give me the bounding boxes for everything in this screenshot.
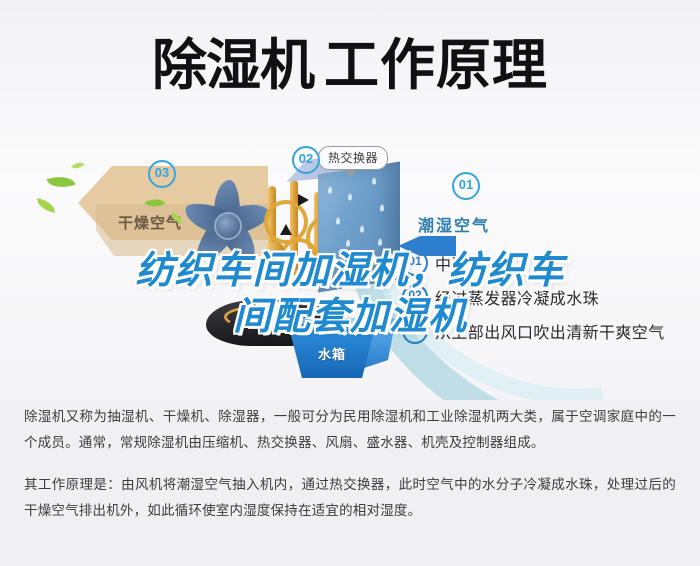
fan-icon — [178, 176, 274, 272]
leaf-icon — [35, 198, 57, 213]
fan-hub — [214, 212, 242, 240]
humid-air-label: 潮湿空气 — [418, 212, 490, 236]
machine-base-ring — [224, 306, 286, 328]
step-item-01: 01 中进风 — [402, 246, 688, 280]
step-list: 01 中进风 02 经过蒸发器冷凝成水珠 03 从上部出风口吹出清新干爽空气 — [402, 246, 688, 348]
description-paragraph-1: 除湿机又称为抽湿机、干燥机、除湿器，一般可分为民用除湿机和工业除湿机两大类，属于… — [24, 404, 676, 456]
leaf-icon — [46, 171, 75, 192]
step-text: 中进风 — [435, 251, 484, 275]
water-tank-label: 水箱 — [318, 344, 346, 363]
infographic-panel: 除湿机工作原理 干燥空气 — [0, 0, 700, 400]
coil-ring — [280, 238, 318, 276]
diagram-badge-03: 03 — [148, 160, 176, 188]
step-item-02: 02 经过蒸发器冷凝成水珠 — [402, 280, 688, 314]
flow-arrow-up-icon — [280, 224, 292, 235]
diagram-badge-02: 02 — [292, 146, 320, 174]
flow-arrow-right-icon — [298, 194, 309, 206]
infographic-page: 除湿机工作原理 干燥空气 — [0, 0, 700, 566]
step-badge: 03 — [402, 318, 428, 344]
leaf-icon — [71, 159, 85, 172]
step-badge: 02 — [402, 284, 428, 310]
diagram-badge-01: 01 — [452, 172, 480, 200]
page-title-part1: 除湿机 — [152, 33, 314, 97]
description-paragraph-2: 其工作原理是：由风机将潮湿空气抽入机内，通过热交换器，此时空气中的水分子冷凝成水… — [24, 472, 676, 524]
step-badge: 01 — [402, 250, 428, 276]
step-text: 经过蒸发器冷凝成水珠 — [435, 285, 599, 309]
step-item-03: 03 从上部出风口吹出清新干爽空气 — [402, 314, 688, 348]
step-text: 从上部出风口吹出清新干爽空气 — [435, 319, 665, 343]
heat-exchanger-icon — [318, 162, 400, 293]
description-block: 除湿机又称为抽湿机、干燥机、除湿器，一般可分为民用除湿机和工业除湿机两大类，属于… — [0, 404, 700, 524]
water-tank-icon: 水箱 — [288, 318, 396, 378]
compressor-cylinder — [266, 242, 284, 272]
heat-exchanger-callout: 热交换器 — [318, 146, 388, 170]
